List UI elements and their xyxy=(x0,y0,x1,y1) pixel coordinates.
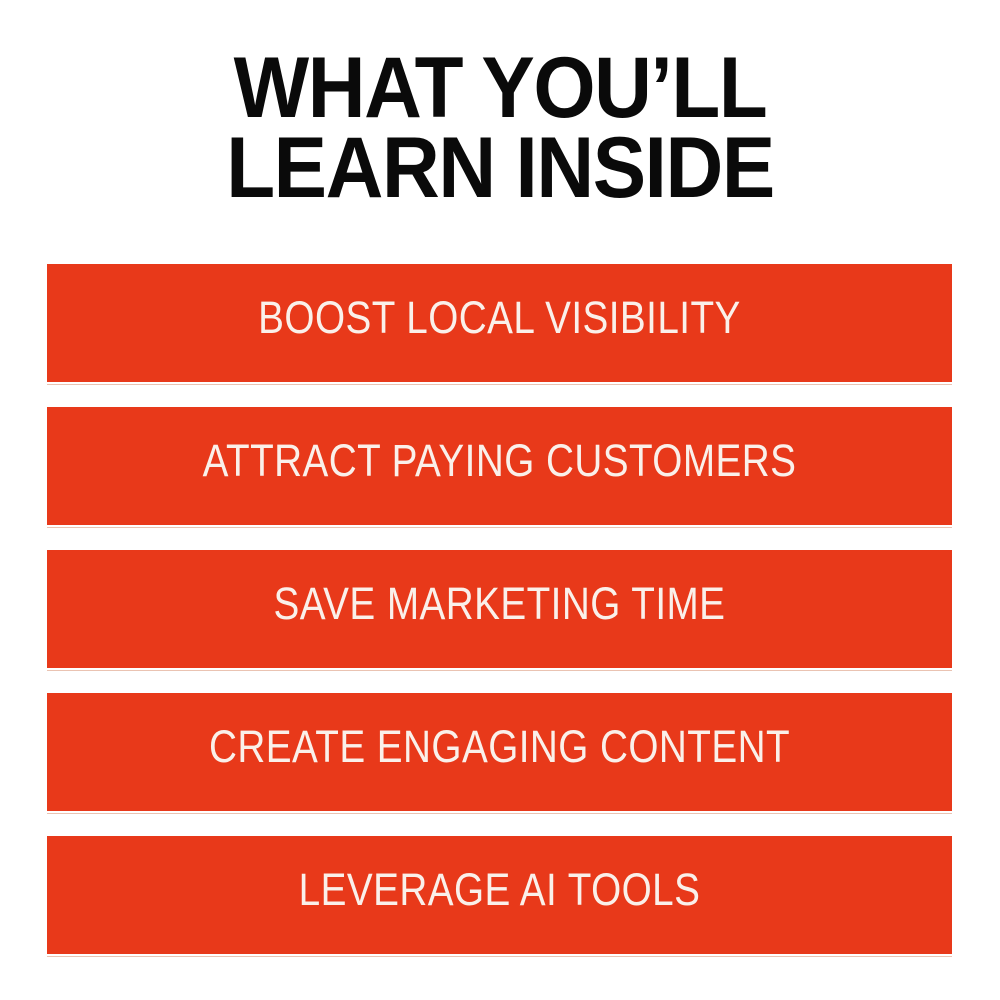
benefit-label-3: SAVE MARKETING TIME xyxy=(110,580,888,628)
benefit-bar-1: BOOST LOCAL VISIBILITY xyxy=(47,264,952,382)
poster-canvas: WHAT YOU’LL LEARN INSIDE BOOST LOCAL VIS… xyxy=(0,0,1000,1000)
benefit-bar-4: CREATE ENGAGING CONTENT xyxy=(47,693,952,811)
page-title-line-2: LEARN INSIDE xyxy=(35,128,965,208)
benefit-label-4: CREATE ENGAGING CONTENT xyxy=(110,723,888,771)
benefit-label-5: LEVERAGE AI TOOLS xyxy=(110,866,888,914)
benefit-bar-3: SAVE MARKETING TIME xyxy=(47,550,952,668)
page-title: WHAT YOU’LL LEARN INSIDE xyxy=(0,48,1000,208)
benefit-list: BOOST LOCAL VISIBILITY ATTRACT PAYING CU… xyxy=(47,264,952,954)
benefit-label-1: BOOST LOCAL VISIBILITY xyxy=(110,294,888,342)
page-title-line-1: WHAT YOU’LL xyxy=(35,48,965,128)
benefit-bar-5: LEVERAGE AI TOOLS xyxy=(47,836,952,954)
benefit-bar-2: ATTRACT PAYING CUSTOMERS xyxy=(47,407,952,525)
benefit-label-2: ATTRACT PAYING CUSTOMERS xyxy=(110,437,888,485)
